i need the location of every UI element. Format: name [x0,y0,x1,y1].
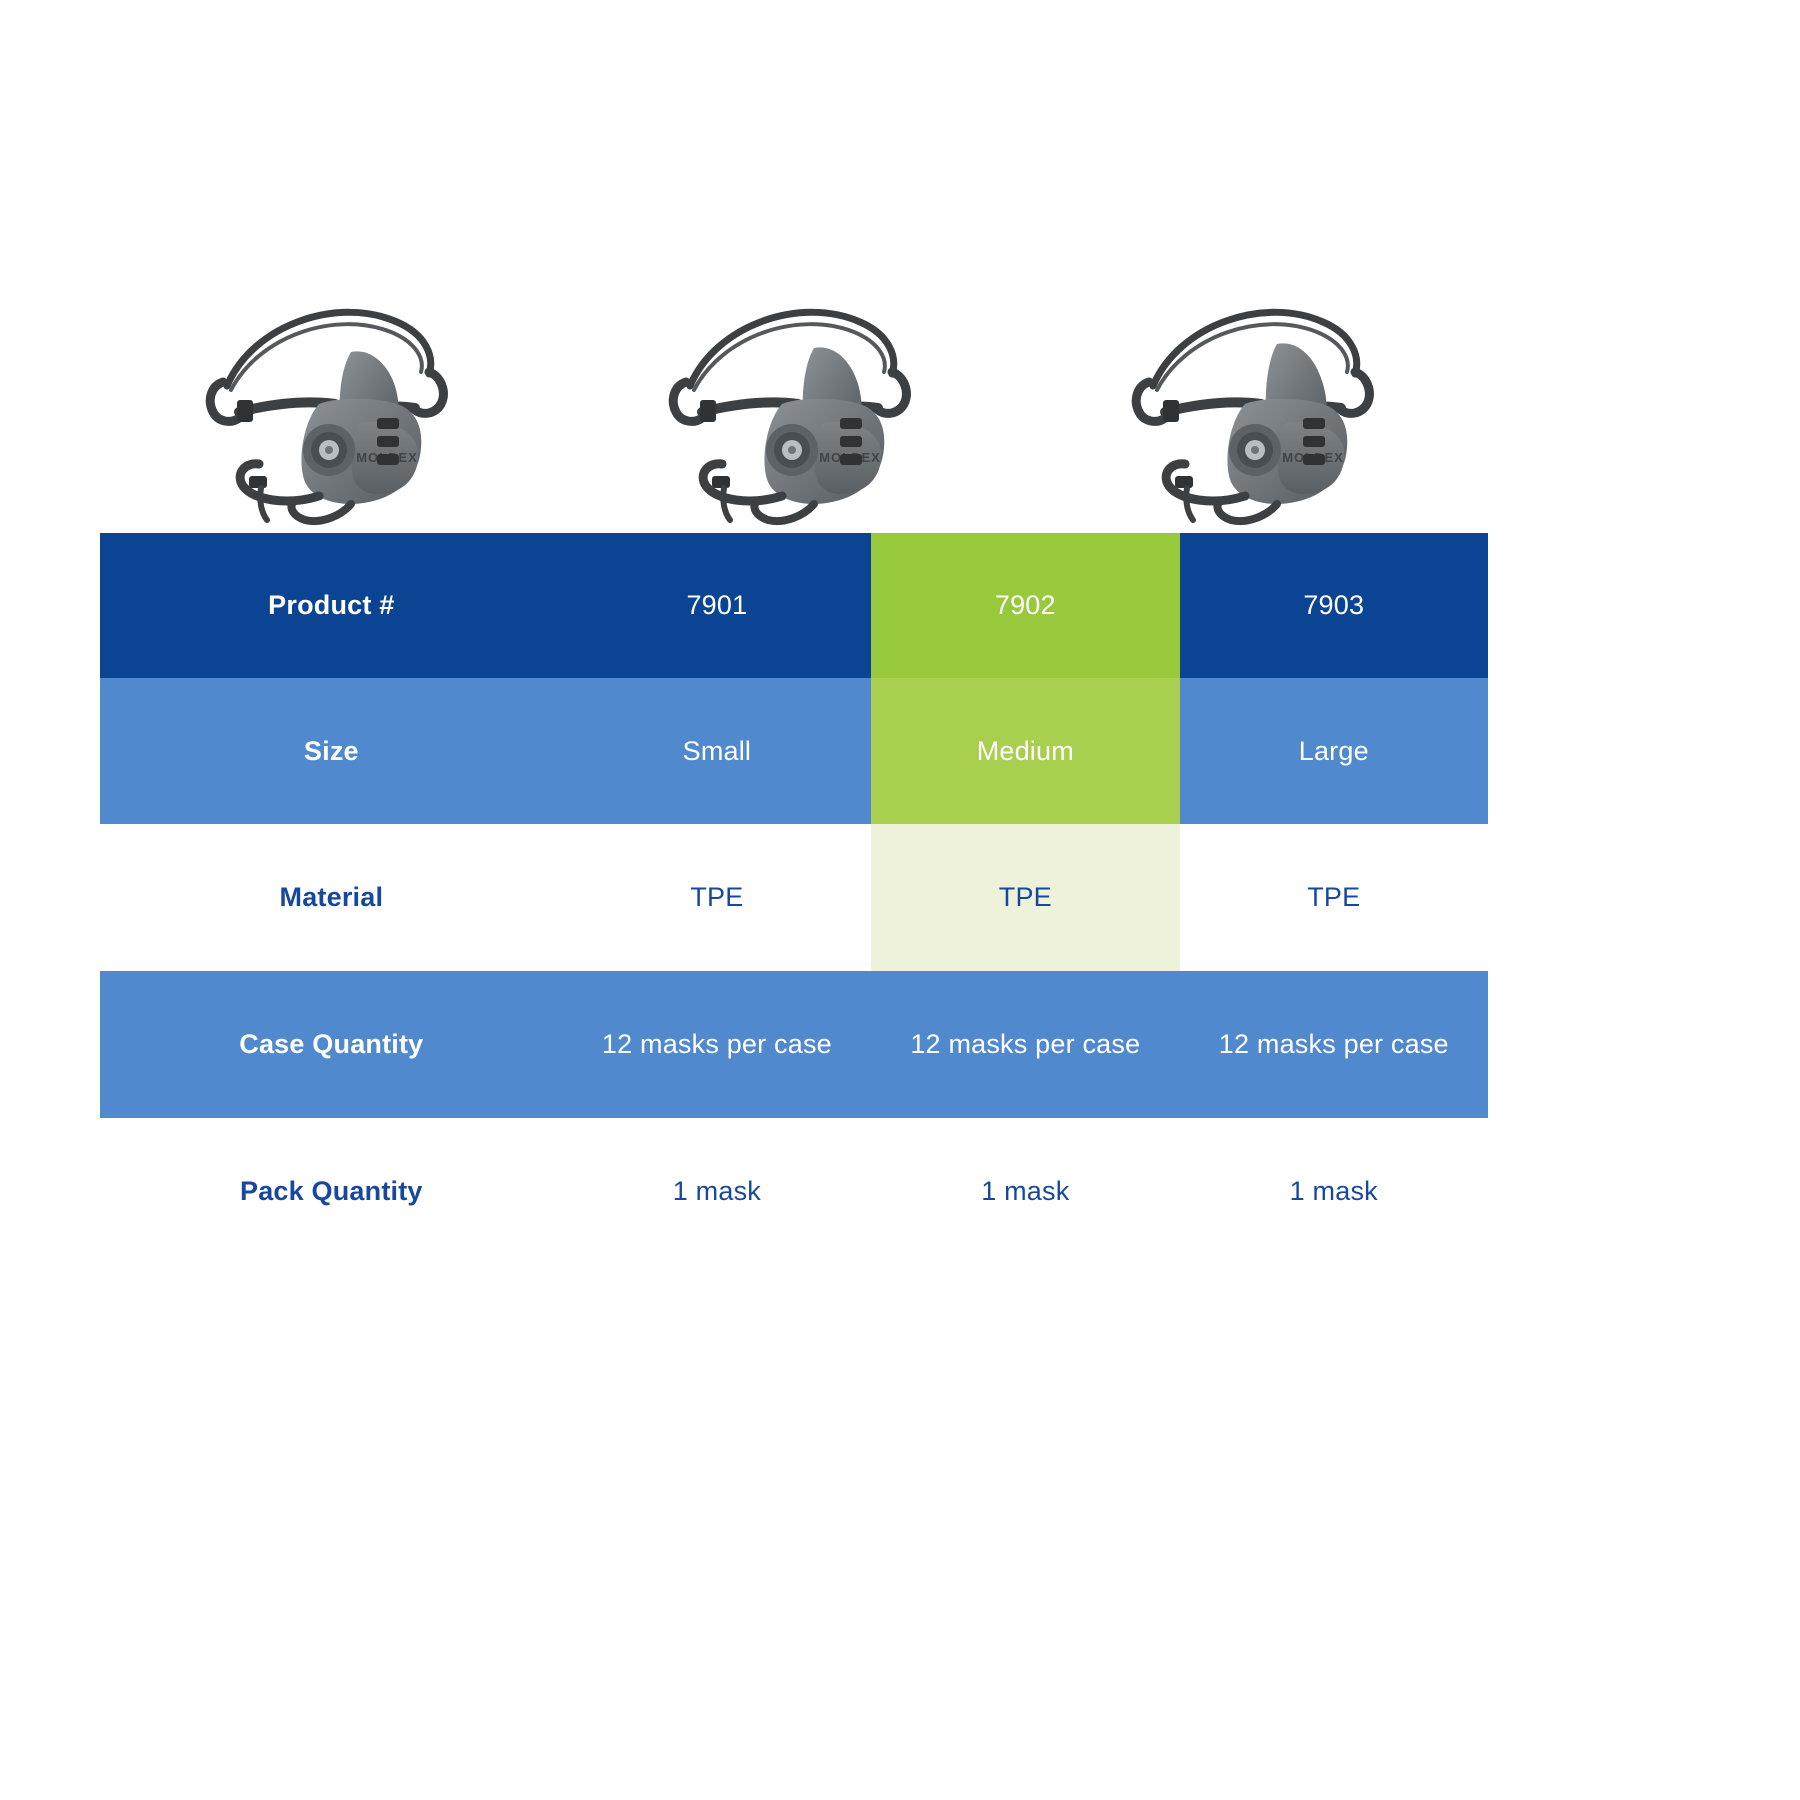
table-row-pack-quantity: Pack Quantity 1 mask 1 mask 1 mask [100,1118,1488,1265]
row-label-pack-quantity: Pack Quantity [100,1118,563,1265]
cell-product-number-7903: 7903 [1180,533,1488,678]
cell-case-quantity-7901: 12 masks per case [563,971,871,1118]
cell-size-7902: Medium [871,678,1179,824]
product-image-7903: MOLDEX [1025,300,1488,533]
row-label-size: Size [100,678,563,824]
cell-product-number-7902: 7902 [871,533,1179,678]
product-image-7902: MOLDEX [563,300,1026,533]
cell-pack-quantity-7902: 1 mask [871,1118,1179,1265]
cell-size-7903: Large [1180,678,1488,824]
cell-material-7901: TPE [563,824,871,971]
cell-pack-quantity-7901: 1 mask [563,1118,871,1265]
product-image-row: MOLDEX [100,300,1488,533]
cell-product-number-7901: 7901 [563,533,871,678]
table-row-material: Material TPE TPE TPE [100,824,1488,971]
row-label-material: Material [100,824,563,971]
cell-case-quantity-7902: 12 masks per case [871,971,1179,1118]
table-row-size: Size Small Medium Large [100,678,1488,824]
product-comparison-page: MOLDEX [0,0,1800,1800]
row-label-product-number: Product # [100,533,563,678]
respirator-mask-icon: MOLDEX [201,300,461,533]
table-row-product-number: Product # 7901 7902 7903 [100,533,1488,678]
respirator-mask-icon: MOLDEX [664,300,924,533]
cell-case-quantity-7903: 12 masks per case [1180,971,1488,1118]
row-label-case-quantity: Case Quantity [100,971,563,1118]
cell-size-7901: Small [563,678,871,824]
product-comparison-table: Product # 7901 7902 7903 Size Small Medi… [100,533,1488,1265]
cell-material-7902: TPE [871,824,1179,971]
table-row-case-quantity: Case Quantity 12 masks per case 12 masks… [100,971,1488,1118]
cell-pack-quantity-7903: 1 mask [1180,1118,1488,1265]
cell-material-7903: TPE [1180,824,1488,971]
product-image-7901: MOLDEX [100,300,563,533]
respirator-mask-icon: MOLDEX [1127,300,1387,533]
